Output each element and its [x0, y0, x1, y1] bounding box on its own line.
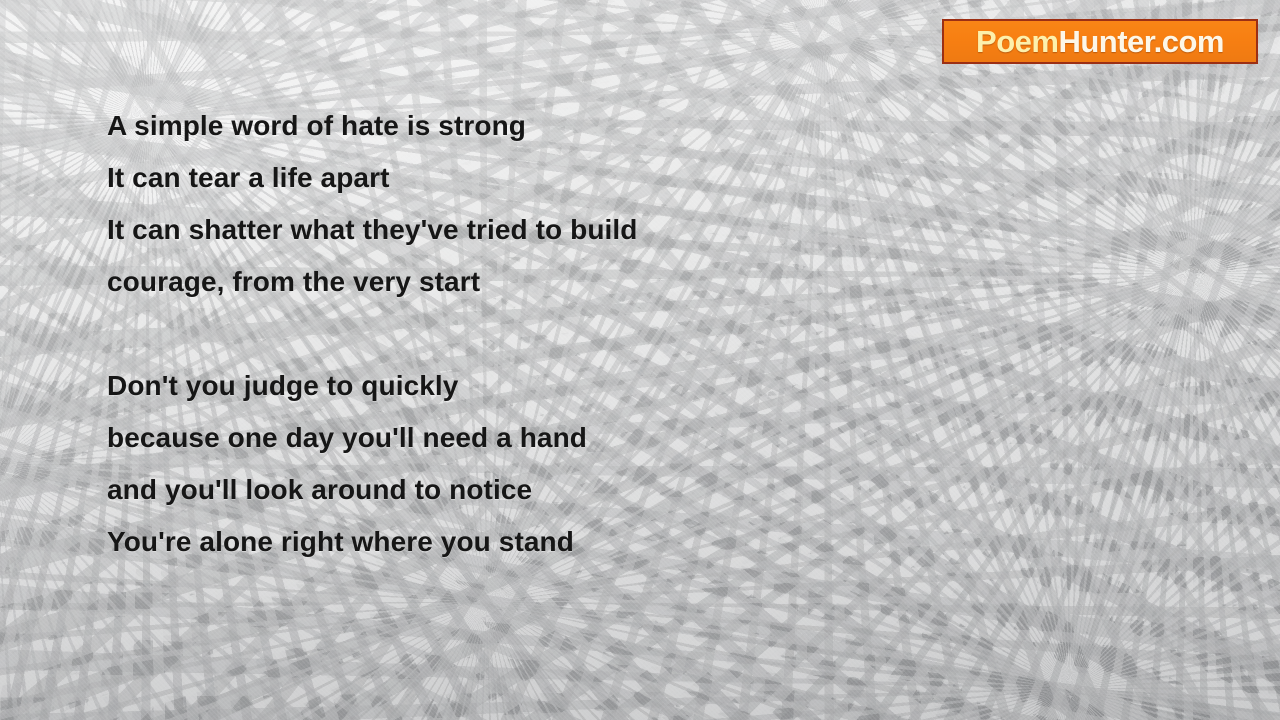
- poem-line: because one day you'll need a hand: [107, 412, 1107, 464]
- poem-line: A simple word of hate is strong: [107, 100, 1107, 152]
- poem-line: It can tear a life apart: [107, 152, 1107, 204]
- poem-line: You're alone right where you stand: [107, 516, 1107, 568]
- poem-body: A simple word of hate is strong It can t…: [107, 100, 1107, 568]
- poem-image-canvas: PoemHunter.com A simple word of hate is …: [0, 0, 1280, 720]
- poem-stanza-break: [107, 308, 1107, 360]
- logo-text-poem: Poem: [976, 24, 1058, 59]
- logo-text-hunter: Hunter.com: [1058, 24, 1224, 59]
- poemhunter-logo-badge[interactable]: PoemHunter.com: [942, 19, 1258, 64]
- poemhunter-logo-text: PoemHunter.com: [976, 26, 1224, 57]
- poem-line: It can shatter what they've tried to bui…: [107, 204, 1107, 256]
- poem-line: and you'll look around to notice: [107, 464, 1107, 516]
- poem-line: courage, from the very start: [107, 256, 1107, 308]
- poem-line: Don't you judge to quickly: [107, 360, 1107, 412]
